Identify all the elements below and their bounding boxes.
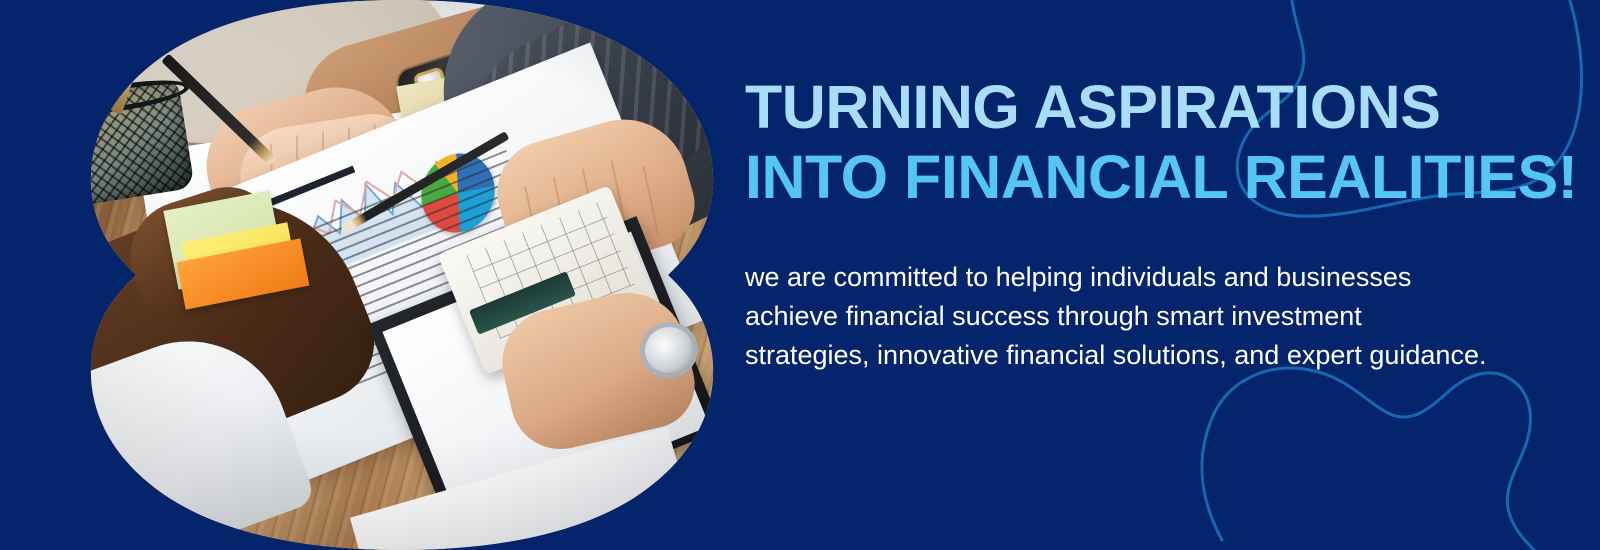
bottom-right-blob-outline (1202, 368, 1536, 550)
headline-line-2: INTO FINANCIAL REALITIES! (745, 142, 1525, 212)
hero-photo (0, 0, 760, 550)
hero-copy: TURNING ASPIRATIONS INTO FINANCIAL REALI… (745, 72, 1525, 375)
meeting-photo-scene (0, 0, 760, 550)
headline-line-1: TURNING ASPIRATIONS (745, 72, 1525, 142)
photo-blob-mask (0, 0, 760, 550)
page-title: TURNING ASPIRATIONS INTO FINANCIAL REALI… (745, 72, 1525, 212)
hero-description: we are committed to helping individuals … (745, 212, 1490, 375)
photo-vignette (0, 0, 760, 550)
hero-banner: TURNING ASPIRATIONS INTO FINANCIAL REALI… (0, 0, 1600, 550)
